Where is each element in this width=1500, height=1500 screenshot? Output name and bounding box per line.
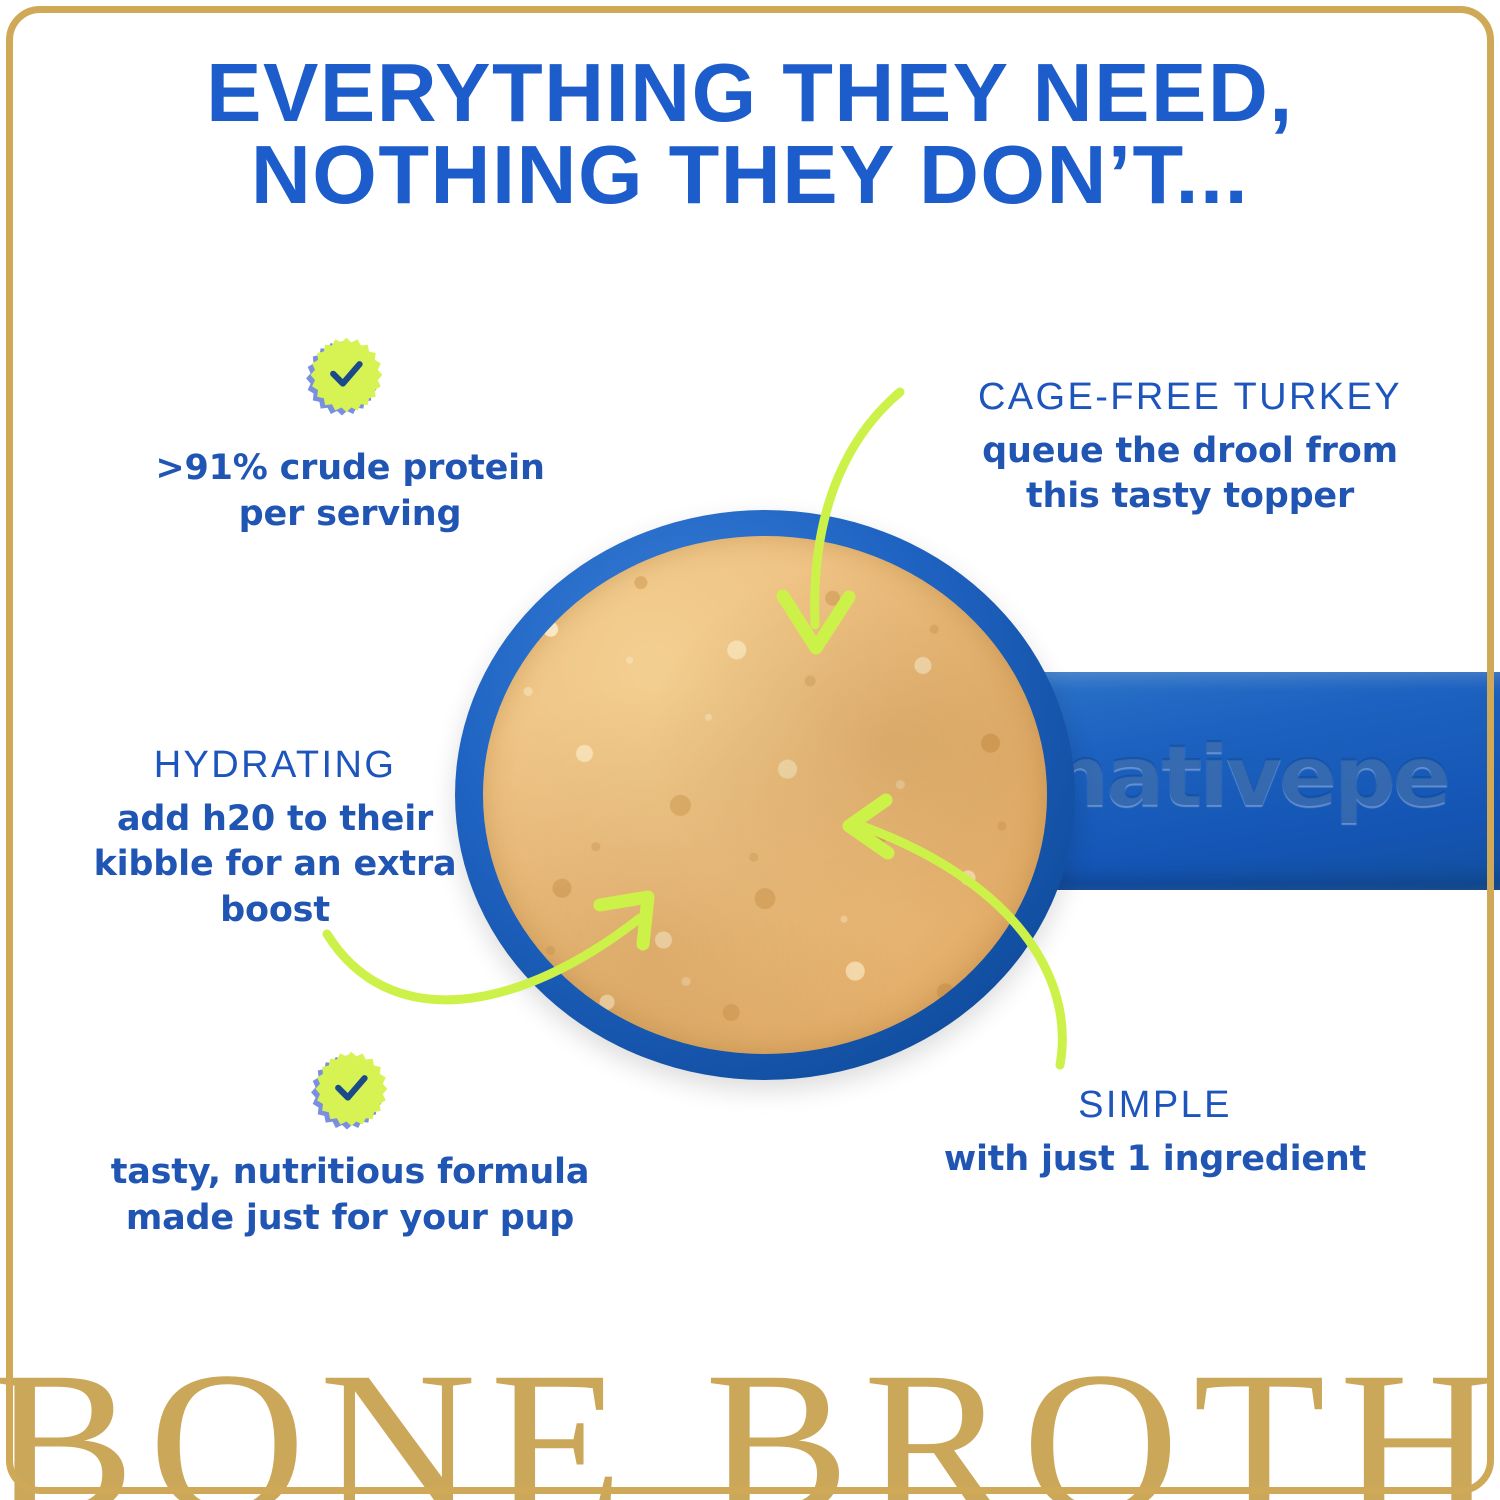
product-name-text: BONE BROTH: [0, 1352, 1500, 1500]
callout-tasty-body: tasty, nutritious formula made just for …: [80, 1150, 620, 1241]
brand-logo-emboss: nativepe: [1048, 726, 1448, 826]
scoop-handle: nativepe: [1010, 672, 1500, 890]
callout-hydrating-title: HYDRATING: [60, 744, 490, 787]
check-badge-icon: [303, 1050, 391, 1138]
scoop-rim: [455, 510, 1075, 1080]
callout-tasty-line-2: made just for your pup: [80, 1196, 620, 1242]
product-name-footer: BONE BROTH: [0, 1352, 1500, 1500]
callout-turkey-body: queue the drool from this tasty topper: [910, 429, 1470, 520]
callout-turkey-line-2: this tasty topper: [910, 474, 1470, 520]
callout-simple-body: with just 1 ingredient: [935, 1137, 1375, 1183]
bone-broth-powder: [483, 536, 1047, 1054]
callout-turkey-line-1: queue the drool from: [910, 429, 1470, 475]
powder-shading: [483, 536, 1047, 1054]
callout-hydrating-line-1: add h20 to their: [60, 797, 490, 843]
callout-protein-body: >91% crude protein per serving: [100, 446, 600, 537]
callout-simple-line-1: with just 1 ingredient: [935, 1137, 1375, 1183]
callout-tasty: tasty, nutritious formula made just for …: [80, 1140, 620, 1241]
callout-hydrating-body: add h20 to their kibble for an extra boo…: [60, 797, 490, 934]
callout-tasty-line-1: tasty, nutritious formula: [80, 1150, 620, 1196]
callout-turkey: CAGE-FREE TURKEY queue the drool from th…: [910, 376, 1470, 520]
callout-protein-line-2: per serving: [100, 492, 600, 538]
callout-hydrating-line-3: boost: [60, 888, 490, 934]
callout-protein: >91% crude protein per serving: [100, 436, 600, 537]
callout-turkey-title: CAGE-FREE TURKEY: [910, 376, 1470, 419]
callout-hydrating: HYDRATING add h20 to their kibble for an…: [60, 744, 490, 933]
check-badge-icon: [298, 336, 386, 424]
callout-simple-title: SIMPLE: [935, 1084, 1375, 1127]
product-infographic: EVERYTHING THEY NEED, NOTHING THEY DON’T…: [0, 0, 1500, 1500]
headline-line-2: NOTHING THEY DON’T...: [0, 134, 1500, 216]
callout-hydrating-line-2: kibble for an extra: [60, 842, 490, 888]
headline-line-1: EVERYTHING THEY NEED,: [0, 52, 1500, 134]
callout-protein-line-1: >91% crude protein: [100, 446, 600, 492]
page-title: EVERYTHING THEY NEED, NOTHING THEY DON’T…: [0, 52, 1500, 216]
callout-simple: SIMPLE with just 1 ingredient: [935, 1084, 1375, 1182]
measuring-scoop-photo: [455, 510, 1075, 1080]
